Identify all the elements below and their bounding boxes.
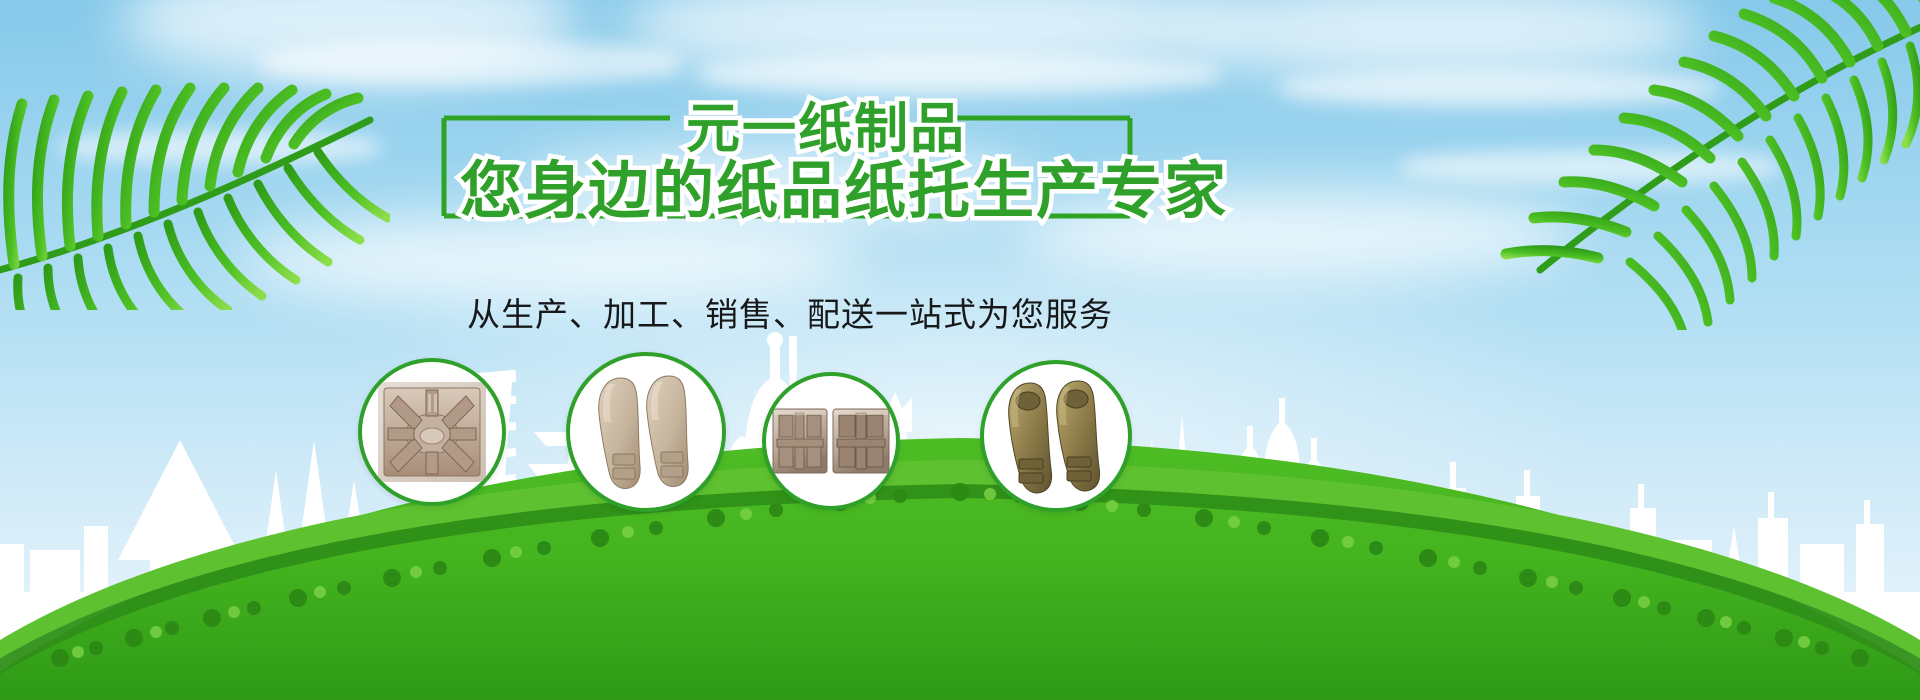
product-circle-1[interactable] xyxy=(358,358,506,506)
palm-frond-left xyxy=(0,0,390,310)
headline-block: 元一纸制品 您身边的纸品纸托生产专家 xyxy=(440,92,1140,220)
palm-frond-right xyxy=(1450,0,1920,330)
product-circle-3[interactable] xyxy=(762,372,900,510)
product-photo-shoe-tree-light xyxy=(591,368,701,496)
product-circle-2[interactable] xyxy=(566,352,726,512)
banner-subtitle: 从生产、加工、销售、配送一站式为您服务 xyxy=(440,288,1140,336)
product-photo-corner-pack xyxy=(771,401,891,481)
promo-banner: 元一纸制品 您身边的纸品纸托生产专家 从生产、加工、销售、配送一站式为您服务 xyxy=(0,0,1920,700)
green-grass-hill xyxy=(0,280,1920,700)
product-photo-tray xyxy=(376,380,488,484)
headline-secondary: 您身边的纸品纸托生产专家 xyxy=(460,140,1160,230)
product-circle-4[interactable] xyxy=(980,360,1132,512)
product-photo-shoe-tree-dark xyxy=(1002,375,1110,497)
